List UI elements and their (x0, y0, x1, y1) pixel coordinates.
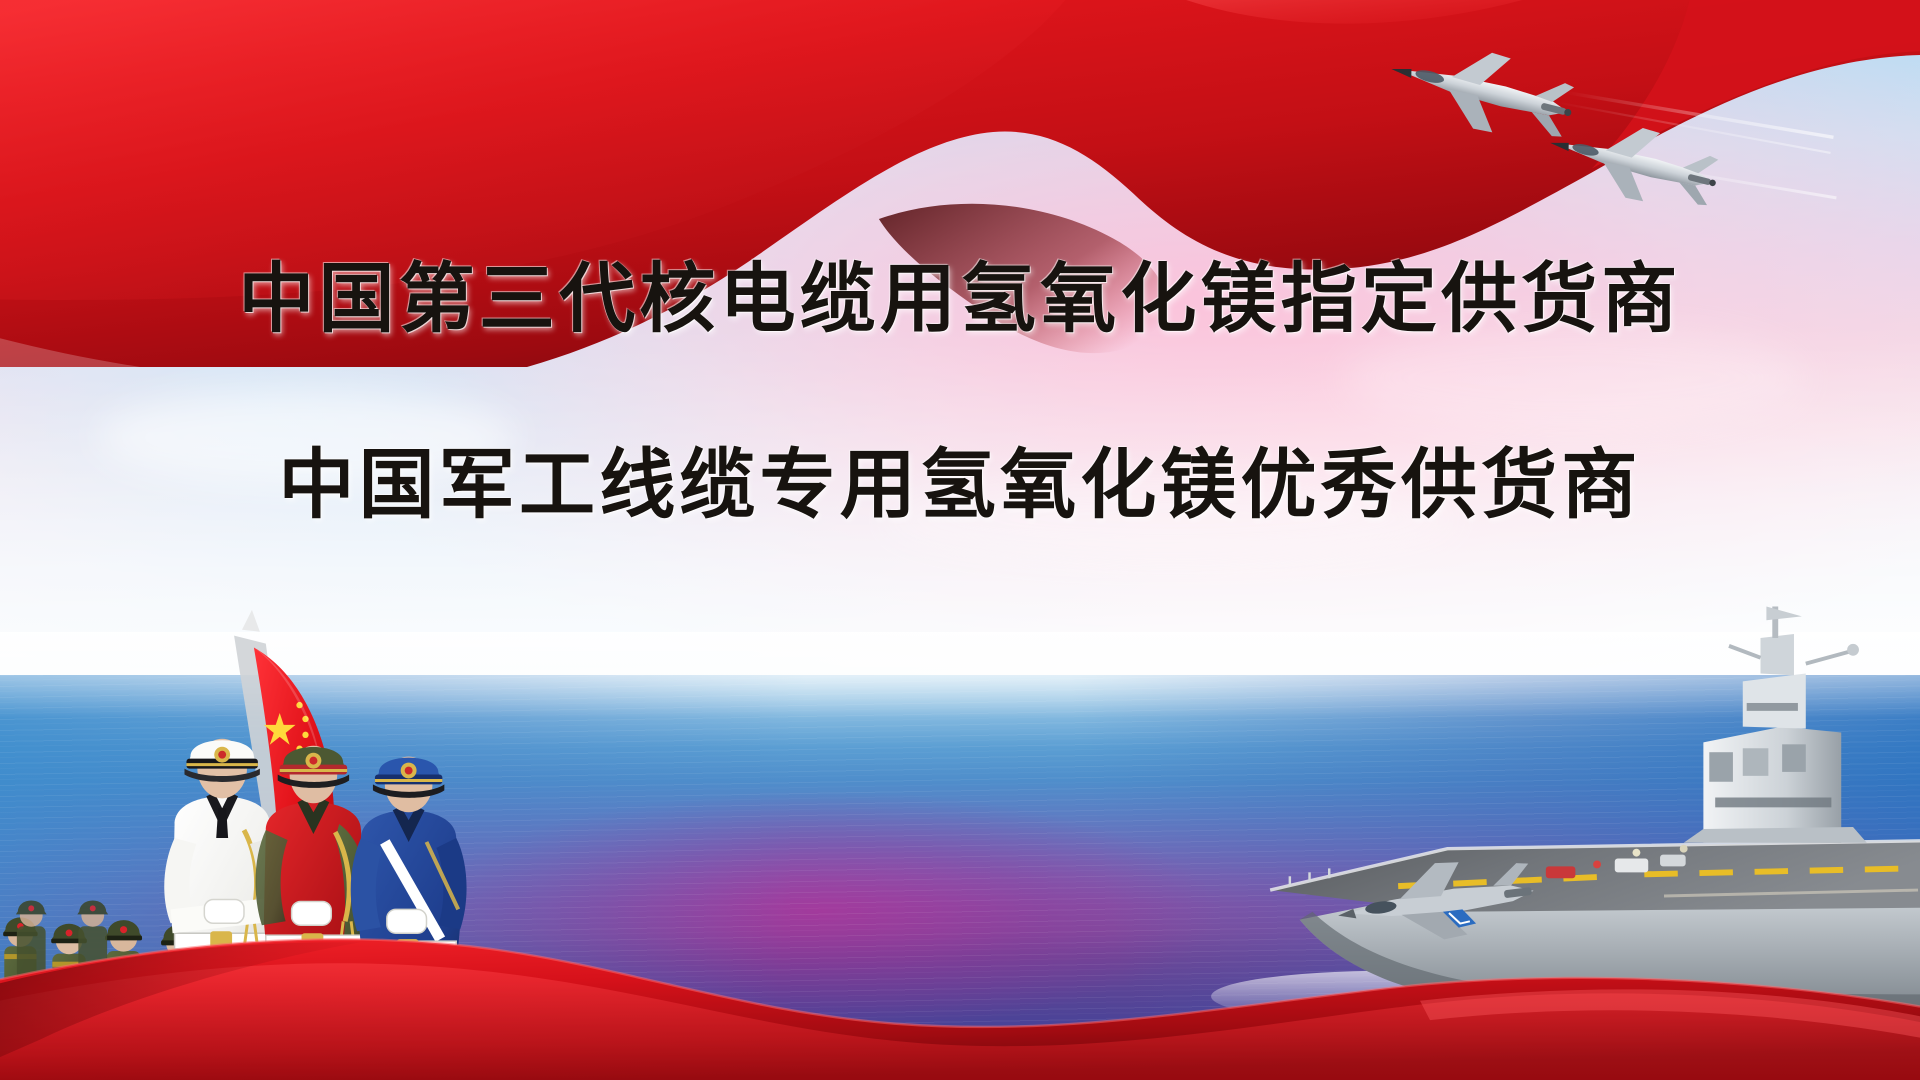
contrail-1 (1565, 92, 1834, 137)
silk-curl-shadow (879, 204, 1166, 353)
banner-canvas: 中国第三代核电缆用氢氧化镁指定供货商 中国军工线缆专用氢氧化镁优秀供货商 (0, 0, 1920, 1080)
fighter-jet-1 (1382, 30, 1581, 151)
fighter-jets-svg (1267, 22, 1843, 227)
flag-pole-finial (242, 610, 260, 632)
cloud-1 (96, 389, 518, 486)
fighter-jet-2 (1542, 107, 1725, 218)
red-ribbon-banner (0, 886, 1920, 1080)
carrier-island (1684, 607, 1867, 843)
cloud-2 (883, 475, 1459, 561)
contrail-2 (1555, 102, 1831, 153)
navy-tie (216, 808, 228, 838)
fighter-jets (1267, 22, 1843, 227)
red-ribbon-svg (0, 886, 1920, 1080)
